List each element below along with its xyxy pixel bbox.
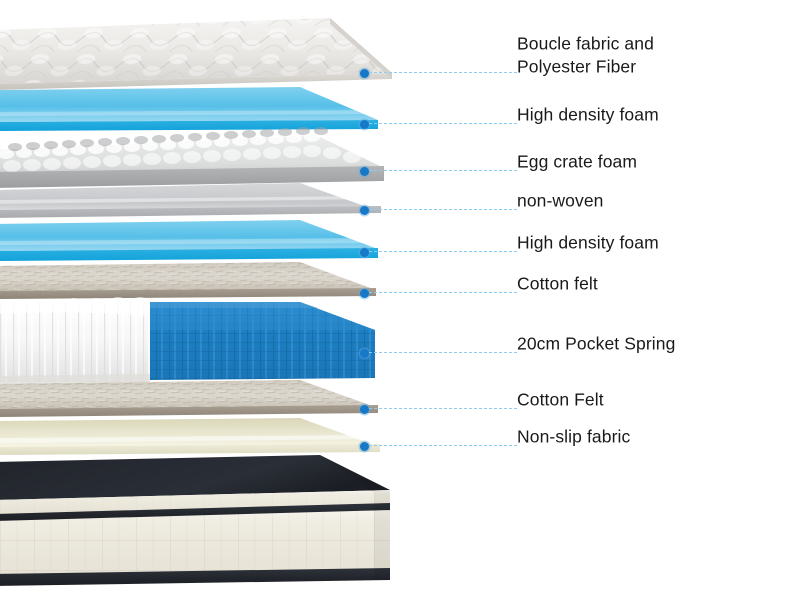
connector-dot-egg-crate-foam xyxy=(360,167,369,176)
leader-line-non-woven xyxy=(369,209,517,211)
mattress-layer-diagram: Boucle fabric and Polyester Fiber High d… xyxy=(0,0,800,600)
layer-high-density-foam-lower xyxy=(0,220,378,261)
label-text-high-density-foam-lower: High density foam xyxy=(517,232,659,255)
connector-dot-high-density-foam-lower xyxy=(360,248,369,257)
leader-line-non-slip-fabric xyxy=(369,445,517,447)
layer-mattress-base xyxy=(0,455,390,586)
label-text-cotton-felt-upper: Cotton felt xyxy=(517,273,598,296)
leader-line-cotton-felt-lower xyxy=(369,408,517,410)
connector-dot-non-woven xyxy=(360,206,369,215)
leader-line-cotton-felt-upper xyxy=(369,292,517,294)
layer-cotton-felt-lower xyxy=(0,380,378,417)
layer-boucle-fabric xyxy=(0,18,392,90)
connector-dot-high-density-foam-upper xyxy=(360,120,369,129)
connector-dot-boucle-fabric xyxy=(360,69,369,78)
label-text-egg-crate-foam: Egg crate foam xyxy=(517,151,637,174)
mattress-stack-svg xyxy=(0,0,400,600)
leader-line-pocket-spring xyxy=(369,352,517,354)
mattress-layer-stack xyxy=(0,0,400,600)
label-text-non-slip-fabric: Non-slip fabric xyxy=(517,426,630,449)
layer-high-density-foam-upper xyxy=(0,87,378,131)
layer-pocket-spring xyxy=(0,297,375,384)
label-text-high-density-foam-upper: High density foam xyxy=(517,104,659,127)
connector-dot-pocket-spring xyxy=(360,349,369,358)
layer-non-woven xyxy=(0,183,381,218)
label-text-non-woven: non-woven xyxy=(517,190,604,213)
layer-cotton-felt-upper xyxy=(0,262,376,299)
label-text-boucle-fabric: Boucle fabric and Polyester Fiber xyxy=(517,32,654,78)
connector-dot-non-slip-fabric xyxy=(360,442,369,451)
layer-egg-crate-foam xyxy=(0,127,384,188)
leader-line-boucle-fabric xyxy=(369,72,517,74)
label-text-pocket-spring: 20cm Pocket Spring xyxy=(517,333,675,356)
connector-dot-cotton-felt-upper xyxy=(360,289,369,298)
label-text-cotton-felt-lower: Cotton Felt xyxy=(517,389,604,412)
leader-line-high-density-foam-upper xyxy=(369,123,517,125)
leader-line-high-density-foam-lower xyxy=(369,251,517,253)
layer-label-column: Boucle fabric and Polyester Fiber High d… xyxy=(360,0,800,600)
connector-dot-cotton-felt-lower xyxy=(360,405,369,414)
layer-non-slip-fabric xyxy=(0,418,380,455)
leader-line-egg-crate-foam xyxy=(369,170,517,172)
